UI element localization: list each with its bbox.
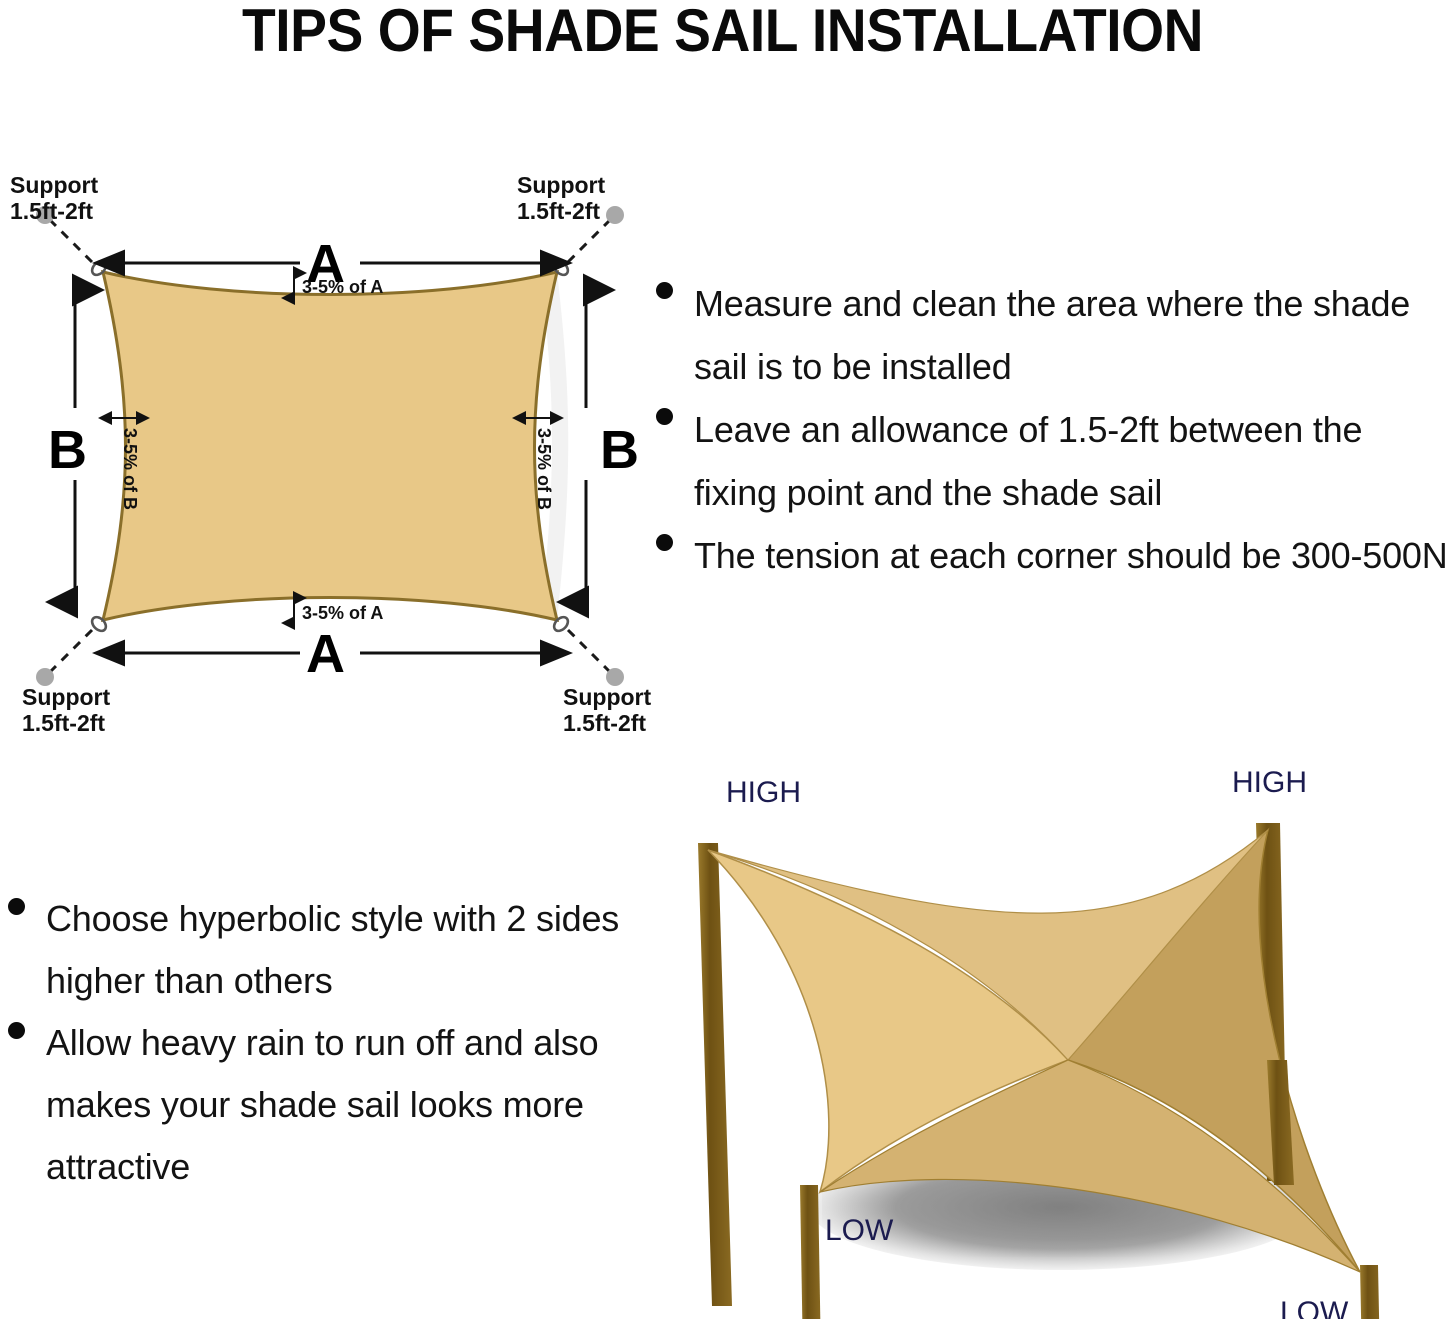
curve-depth-label-bottom: 3-5% of A bbox=[302, 603, 383, 623]
list-item: Allow heavy rain to run off and also mak… bbox=[0, 1012, 630, 1198]
support-dot-top-right bbox=[606, 206, 624, 224]
post-front-left-low bbox=[800, 1185, 821, 1319]
hyperbolic-sail-diagram: HIGH HIGH LOW LOW bbox=[660, 760, 1445, 1319]
tip-text: Measure and clean the area where the sha… bbox=[694, 272, 1445, 398]
bottom-section: Choose hyperbolic style with 2 sides hig… bbox=[0, 760, 1445, 1319]
post-front-left-high bbox=[698, 843, 732, 1306]
support-label-top-right-line1: Support bbox=[517, 172, 605, 198]
bullet-dot-icon bbox=[8, 898, 25, 915]
dimension-letter-b-right: B bbox=[600, 420, 639, 480]
bullet-dot-icon bbox=[8, 1022, 25, 1039]
curve-depth-left: 3-5% of B bbox=[111, 418, 140, 510]
rectangular-sail-diagram: Support 1.5ft-2ft Support 1.5ft-2ft Supp… bbox=[0, 150, 700, 740]
support-line-bottom-left bbox=[36, 630, 92, 686]
bullet-dot-icon bbox=[656, 408, 673, 425]
dimension-letter-b-left: B bbox=[48, 420, 87, 480]
dimension-letter-a-bottom: A bbox=[306, 624, 345, 684]
dimension-b-right: B bbox=[586, 290, 639, 602]
label-high-left: HIGH bbox=[726, 776, 801, 809]
support-label-bottom-left-line2: 1.5ft-2ft bbox=[22, 710, 105, 736]
tip-text: The tension at each corner should be 300… bbox=[694, 524, 1445, 587]
curve-depth-label-left: 3-5% of B bbox=[120, 428, 140, 510]
tip-text: Choose hyperbolic style with 2 sides hig… bbox=[46, 888, 630, 1012]
tip-text: Leave an allowance of 1.5-2ft between th… bbox=[694, 398, 1445, 524]
tip-text: Allow heavy rain to run off and also mak… bbox=[46, 1012, 630, 1198]
label-high-right: HIGH bbox=[1232, 766, 1307, 799]
list-item: Choose hyperbolic style with 2 sides hig… bbox=[0, 888, 630, 1012]
support-label-top-left-line1: Support bbox=[10, 172, 98, 198]
list-item: The tension at each corner should be 300… bbox=[648, 524, 1445, 587]
support-label-bottom-right-line1: Support bbox=[563, 684, 651, 710]
list-item: Leave an allowance of 1.5-2ft between th… bbox=[648, 398, 1445, 524]
list-item: Measure and clean the area where the sha… bbox=[648, 272, 1445, 398]
dimension-a-bottom: A bbox=[122, 624, 543, 684]
support-label-bottom-left-line1: Support bbox=[22, 684, 110, 710]
tips-list-top: Measure and clean the area where the sha… bbox=[648, 272, 1445, 587]
tips-list-bottom: Choose hyperbolic style with 2 sides hig… bbox=[0, 888, 630, 1198]
support-label-bottom-right-line2: 1.5ft-2ft bbox=[563, 710, 646, 736]
support-line-bottom-right bbox=[568, 630, 624, 686]
top-section: Support 1.5ft-2ft Support 1.5ft-2ft Supp… bbox=[0, 150, 1445, 740]
support-label-top-right-line2: 1.5ft-2ft bbox=[517, 198, 600, 224]
support-label-top-left-line2: 1.5ft-2ft bbox=[10, 198, 93, 224]
curve-depth-top: 3-5% of A bbox=[294, 273, 383, 298]
label-low-right: LOW bbox=[1280, 1296, 1349, 1319]
page-title: TIPS OF SHADE SAIL INSTALLATION bbox=[58, 0, 1387, 62]
bullet-dot-icon bbox=[656, 534, 673, 551]
shade-sail-shape bbox=[103, 272, 557, 620]
post-front-right-low bbox=[1360, 1265, 1382, 1319]
curve-depth-label-right: 3-5% of B bbox=[534, 428, 554, 510]
curve-depth-bottom: 3-5% of A bbox=[294, 598, 383, 623]
curve-depth-label-top: 3-5% of A bbox=[302, 277, 383, 297]
dimension-b-left: B bbox=[48, 290, 87, 602]
label-low-left: LOW bbox=[825, 1214, 894, 1247]
bullet-dot-icon bbox=[656, 282, 673, 299]
